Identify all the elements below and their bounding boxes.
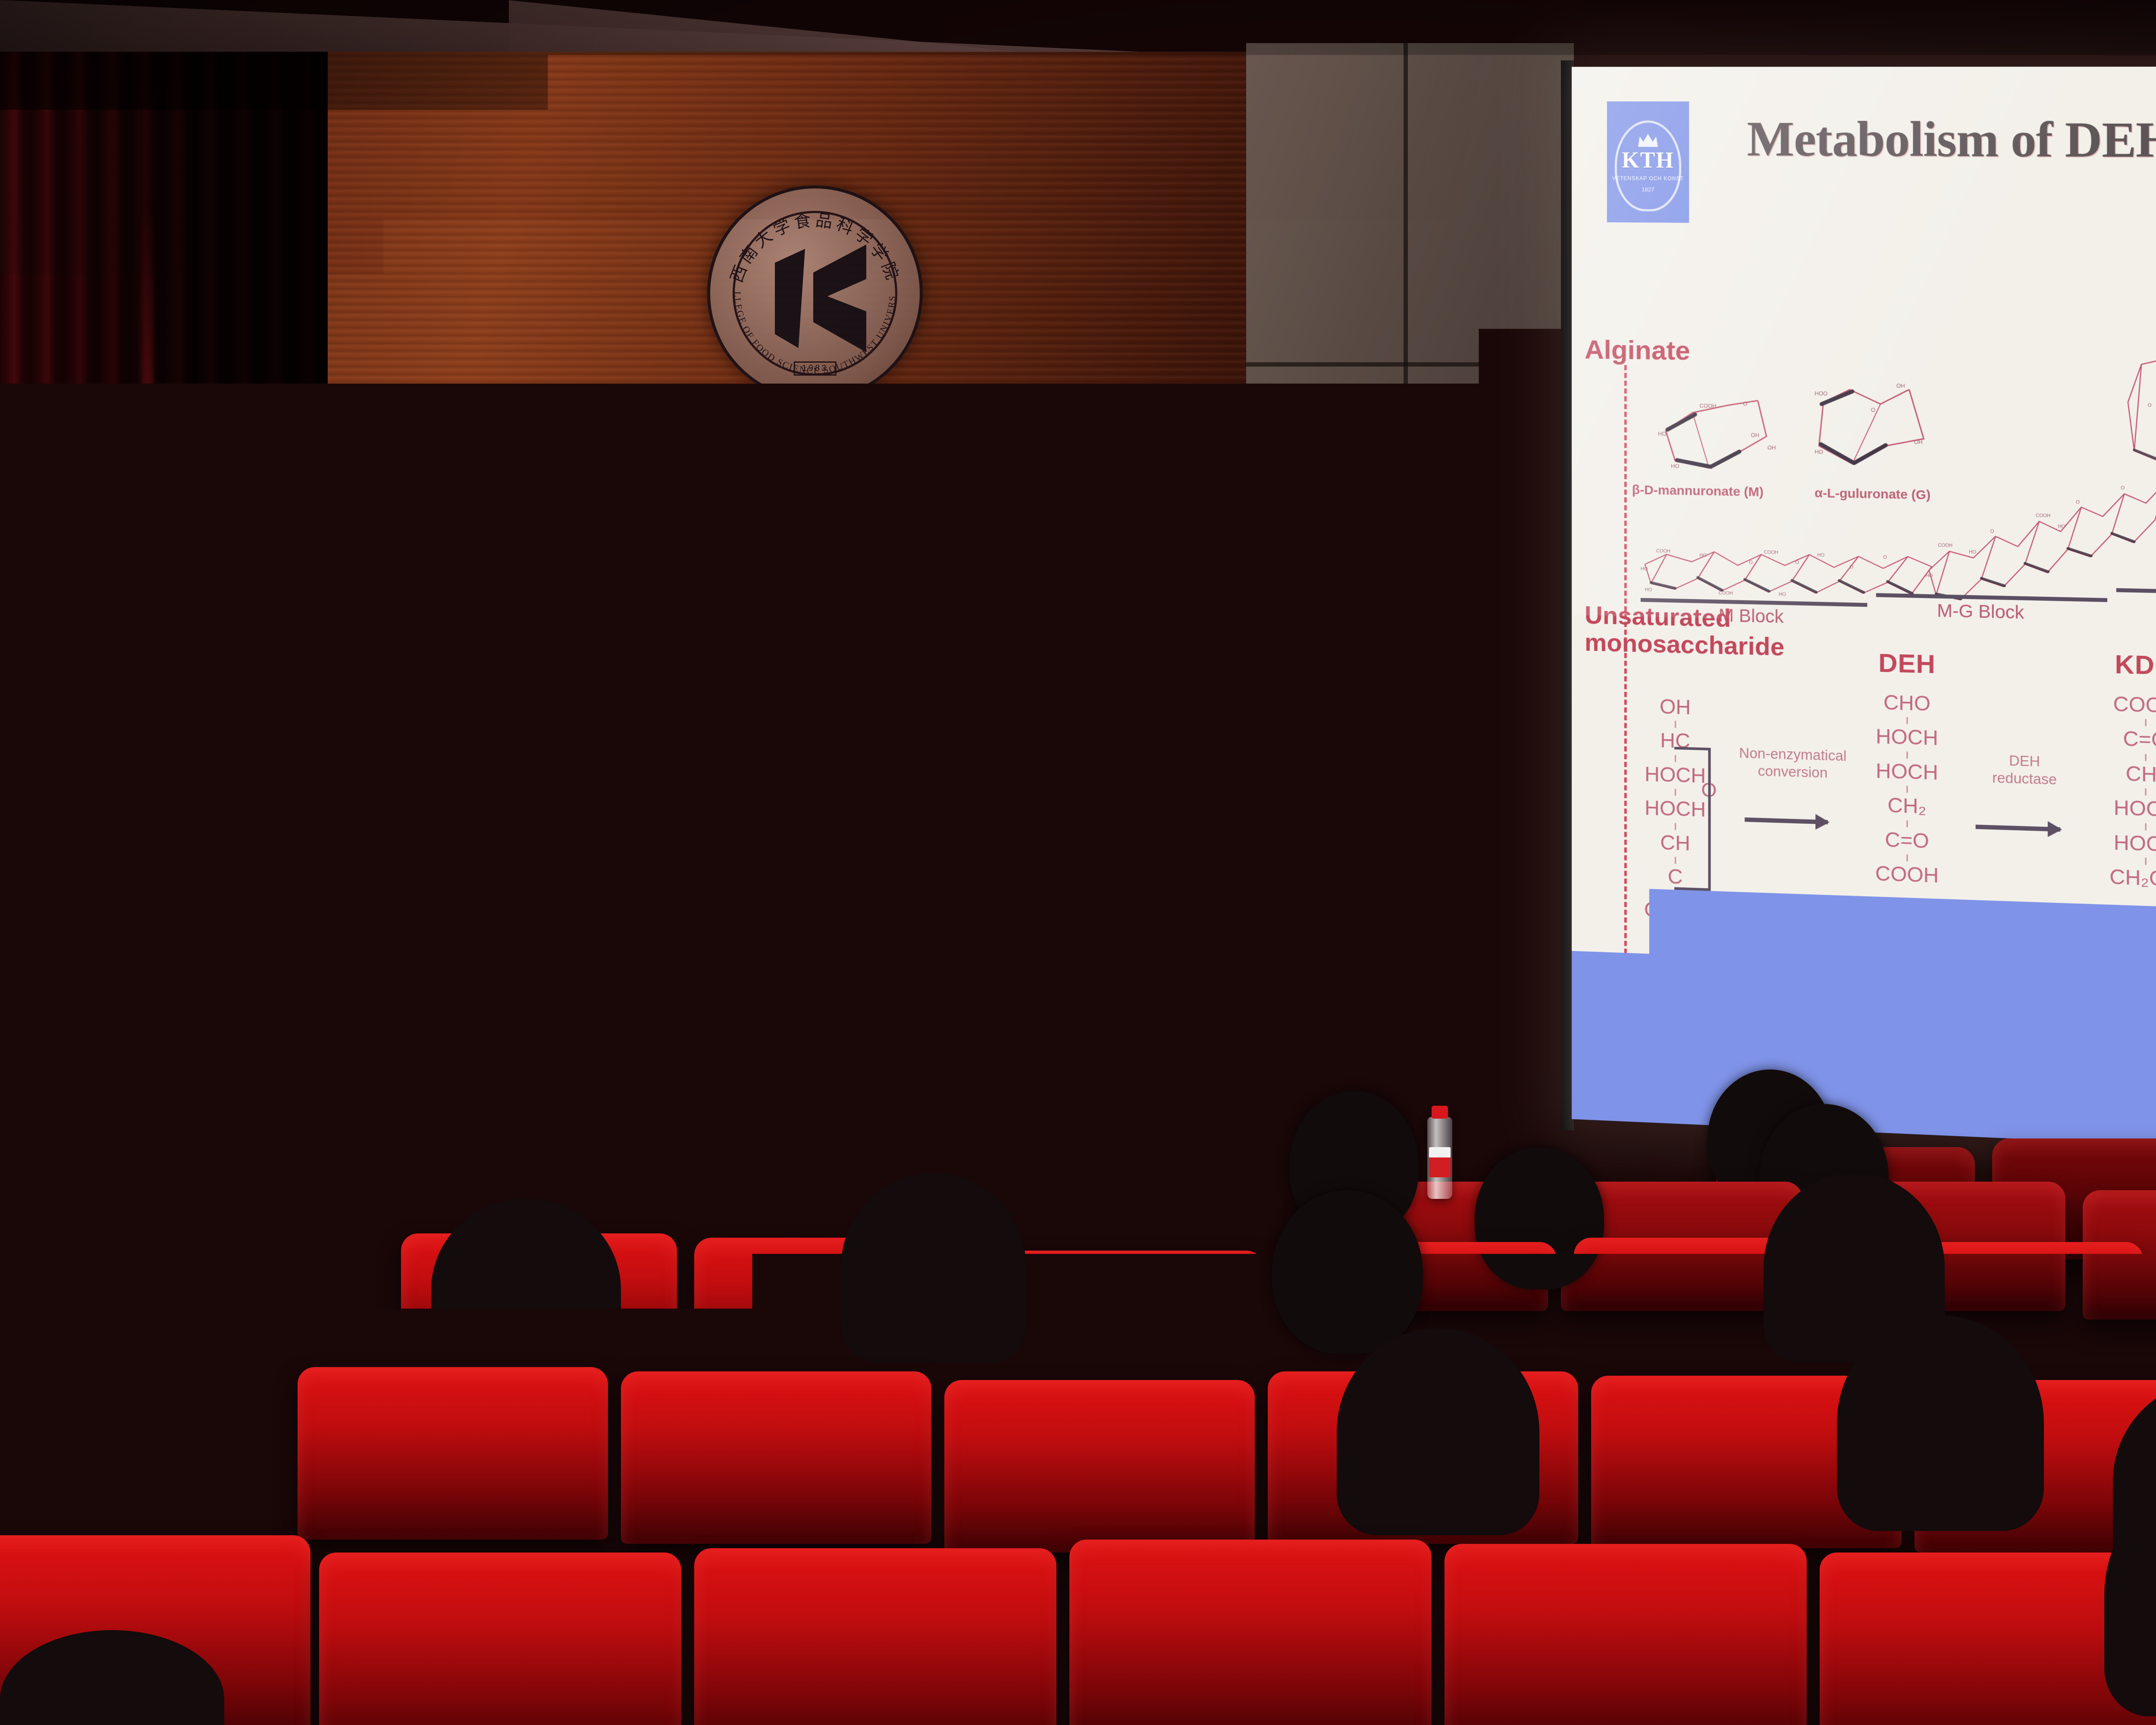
svg-text:HO: HO [1699,553,1707,558]
aircon-control-panel[interactable]: 25 [431,871,465,979]
panel-seam-1 [1246,362,1574,367]
svg-text:OH: OH [1767,444,1776,451]
ring-bracket [1674,747,1711,891]
c2-l3: HOCH [2071,793,2156,825]
audience-head [1272,1190,1423,1354]
audience-head [1837,1315,2044,1531]
c2-l0: COOH [2071,690,2156,721]
podium-front [1160,925,1457,1015]
unsaturated-monosaccharide-label: Unsaturated monosaccharide [1585,602,1767,661]
draped-jacket [108,1164,310,1268]
aircon-sticker [357,853,400,867]
compound-deh-name: DEH [1841,647,1973,681]
reaction-arrow-0 [1745,817,1828,824]
svg-text:OH: OH [1896,383,1905,389]
audience-head [1048,1121,1177,1264]
c2-l4: HOCH [2071,828,2156,860]
curtain-highlight [142,203,154,1195]
svg-text:COOH: COOH [2036,513,2050,519]
compound-kdg-chain: COOH C=O CH₂ HOCH HOCH CH₂OH [2071,690,2156,895]
svg-text:COOH: COOH [1699,402,1716,409]
svg-text:O: O [2148,403,2152,408]
audience-head [841,1173,1026,1363]
c1-l1: HOCH [1841,722,1973,753]
guluronate-structure: HOOO HOOH OH [1814,376,1942,478]
aircon-keypad[interactable] [434,934,462,974]
svg-text:HO: HO [1658,430,1667,437]
audience-head [431,1199,621,1380]
svg-text:COOH: COOH [1764,550,1778,555]
seat [987,1251,1263,1393]
svg-text:COOH: COOH [1656,549,1670,554]
svg-text:HO: HO [1671,463,1680,469]
microphone-band [821,734,858,760]
kth-founded-year: 1827 [1642,186,1654,193]
c2-l5: CH₂OH [2071,862,2156,895]
presenter-right-hand [826,785,877,837]
compound-column-kdg: KDG COOH C=O CH₂ HOCH HOCH CH₂OH [2071,648,2156,895]
audience-head [1337,1328,1539,1535]
c1-l4: C=O [1841,825,1973,856]
podium-side [1115,919,1166,1104]
svg-text:HO: HO [2058,524,2065,530]
slide-blue-band-lower [1572,951,1654,1123]
svg-text:O: O [1990,529,1994,534]
bottle-cap [280,1106,297,1119]
c1-l5: COOH [1841,859,1973,891]
compound-deh-chain: CHO HOCH HOCH CH₂ C=O COOH [1841,688,1973,891]
panel-seam-2 [1246,673,1574,677]
svg-text:OH: OH [1751,432,1759,438]
emblem-chinese: 西南大学食品科学学院 [727,210,903,285]
svg-text:O: O [1883,555,1887,560]
seat [694,1548,1056,1725]
svg-text:HO: HO [1814,448,1823,455]
kth-motto: VETENSKAP OCH KONST [1612,175,1684,182]
c0-l0: OH [1598,692,1754,723]
svg-text:COOH: COOH [1938,543,1952,549]
svg-text:HO: HO [1779,592,1786,597]
aircon-top-cap [293,673,561,690]
bottle-cap [1432,1106,1448,1119]
enzyme-label-0: Non-enzymatical conversion [1736,744,1850,782]
svg-text:HO: HO [1925,573,1933,579]
handheld-microphone[interactable] [793,719,936,795]
seat [1445,1544,1807,1725]
water-bottle[interactable] [1427,1117,1452,1199]
svg-text:OH: OH [1914,439,1923,445]
crown-icon [1636,131,1660,148]
aircon-grille [350,703,540,841]
college-emblem: 西南大学食品科学学院 COLLEGE OF FOOD SCIENCE SOUTH… [707,185,923,401]
svg-text:COOH: COOH [1719,590,1733,596]
aircon-temperature-value: 25 [438,891,458,911]
svg-text:O: O [1743,400,1747,407]
svg-text:西南大学食品科学学院: 西南大学食品科学学院 [727,210,903,285]
g-block-chain: OO OO [2121,349,2156,520]
mg-block-label: M-G Block [1937,600,2024,623]
c1-l0: CHO [1841,688,1973,719]
aircon-grille-divider [427,703,430,841]
slide-title: Metabolism of DEH in microorganism [1747,110,2156,171]
aircon-energy-label [508,855,542,886]
aircon-temperature-display: 25 [433,873,463,929]
microphone-head [782,712,825,756]
seat [319,1552,681,1725]
seat [621,1371,931,1544]
svg-text:HOO: HOO [1814,390,1827,397]
aircon-brand-mark [431,853,492,860]
enzyme-label-1: DEH reductase [1967,751,2083,789]
floor-air-conditioner[interactable]: 25 [302,686,552,1199]
svg-text:O: O [1871,407,1875,413]
seat [0,1350,285,1522]
lecture-hall-photo: 西南大学食品科学学院 COLLEGE OF FOOD SCIENCE SOUTH… [0,0,2156,1725]
mannuronate-structure: HOCOOH HOO OHOH [1658,379,1802,480]
presentation-slide: KTH VETENSKAP OCH KONST 1827 Metabolism … [1572,66,2156,1166]
unsat-text: Unsaturated monosaccharide [1585,601,1784,661]
svg-text:HO: HO [1645,587,1652,593]
c2-l2: CH₂ [2071,759,2156,791]
projection-screen[interactable]: KTH VETENSKAP OCH KONST 1827 Metabolism … [1572,66,2156,1166]
seat [1069,1540,1432,1725]
svg-text:O: O [1749,560,1753,565]
monomer-label-m: β-D-mannuronate (M) [1632,483,1764,500]
c1-l2: HOCH [1841,757,1973,788]
compound-column-deh: DEH CHO HOCH HOCH CH₂ C=O COOH [1841,647,1973,891]
wall-calligraphy-line1: 西南大学 [617,457,962,557]
svg-text:O: O [1796,560,1799,565]
kth-logo: KTH VETENSKAP OCH KONST 1827 [1607,101,1689,223]
svg-text:HO: HO [1817,552,1824,558]
presenter [561,655,949,1207]
wall-calligraphy-line2: 食品科学学院 [586,561,1068,654]
c2-l1: C=O [2071,724,2156,756]
compound-kdg-name: KDG [2071,648,2156,682]
reaction-arrow-1 [1976,825,2060,831]
svg-text:HO: HO [1641,566,1648,571]
alginate-label: Alginate [1585,334,1690,366]
svg-text:HO: HO [1969,549,1976,555]
svg-text:O: O [1850,565,1854,570]
seat [944,1380,1255,1552]
emblem-year: 1983 [794,361,837,376]
c1-l3: CH₂ [1841,791,1973,822]
monomer-label-g: α-L-guluronate (G) [1814,486,1930,503]
svg-text:O: O [2076,500,2080,505]
seat [298,1367,608,1540]
bottle-label [1429,1147,1451,1177]
